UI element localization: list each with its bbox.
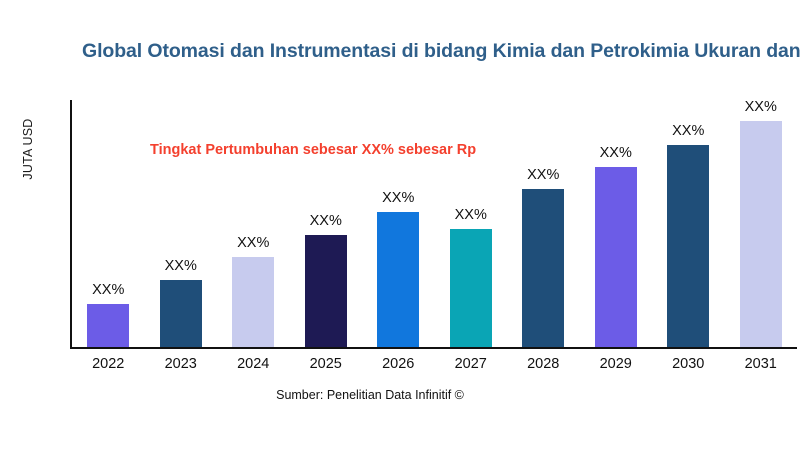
bar-group: XX% — [217, 100, 290, 347]
bar-group: XX% — [145, 100, 218, 347]
bar-group: XX% — [580, 100, 653, 347]
x-tick-label: 2031 — [721, 356, 800, 372]
y-axis-label: JUTA USD — [21, 89, 35, 209]
bar[interactable] — [160, 280, 202, 347]
bar-value-label: XX% — [310, 213, 342, 229]
bar-group: XX% — [435, 100, 508, 347]
x-tick-label: 2030 — [648, 356, 728, 372]
bar-value-label: XX% — [672, 123, 704, 139]
bar-value-label: XX% — [165, 258, 197, 274]
bar[interactable] — [667, 145, 709, 347]
bar-group: XX% — [290, 100, 363, 347]
chart-title: Global Otomasi dan Instrumentasi di bida… — [82, 40, 800, 63]
bar[interactable] — [377, 212, 419, 347]
plot-area: XX%XX%XX%XX%XX%XX%XX%XX%XX%XX% — [72, 100, 797, 347]
source-caption: Sumber: Penelitian Data Infinitif © — [0, 388, 740, 402]
bar-chart-figure: Global Otomasi dan Instrumentasi di bida… — [0, 0, 800, 450]
bar[interactable] — [87, 304, 129, 347]
x-tick-label: 2026 — [358, 356, 438, 372]
bar-group: XX% — [652, 100, 725, 347]
bar-group: XX% — [725, 100, 798, 347]
x-tick-label: 2024 — [213, 356, 293, 372]
bar[interactable] — [450, 229, 492, 347]
x-tick-label: 2029 — [576, 356, 656, 372]
bar-value-label: XX% — [92, 282, 124, 298]
bar[interactable] — [232, 257, 274, 347]
bar-group: XX% — [362, 100, 435, 347]
bar[interactable] — [305, 235, 347, 347]
bar-value-label: XX% — [382, 190, 414, 206]
growth-rate-annotation: Tingkat Pertumbuhan sebesar XX% sebesar … — [150, 142, 476, 158]
bar[interactable] — [522, 189, 564, 347]
bar-value-label: XX% — [600, 145, 632, 161]
x-tick-label: 2028 — [503, 356, 583, 372]
x-tick-label: 2025 — [286, 356, 366, 372]
bar-value-label: XX% — [527, 167, 559, 183]
bar-value-label: XX% — [237, 235, 269, 251]
bar-value-label: XX% — [455, 207, 487, 223]
x-axis-line — [70, 347, 797, 349]
bar-value-label: XX% — [745, 99, 777, 115]
x-tick-label: 2027 — [431, 356, 511, 372]
bar-group: XX% — [72, 100, 145, 347]
x-tick-label: 2023 — [141, 356, 221, 372]
bar[interactable] — [740, 121, 782, 347]
x-tick-label: 2022 — [68, 356, 148, 372]
bar[interactable] — [595, 167, 637, 347]
bar-group: XX% — [507, 100, 580, 347]
